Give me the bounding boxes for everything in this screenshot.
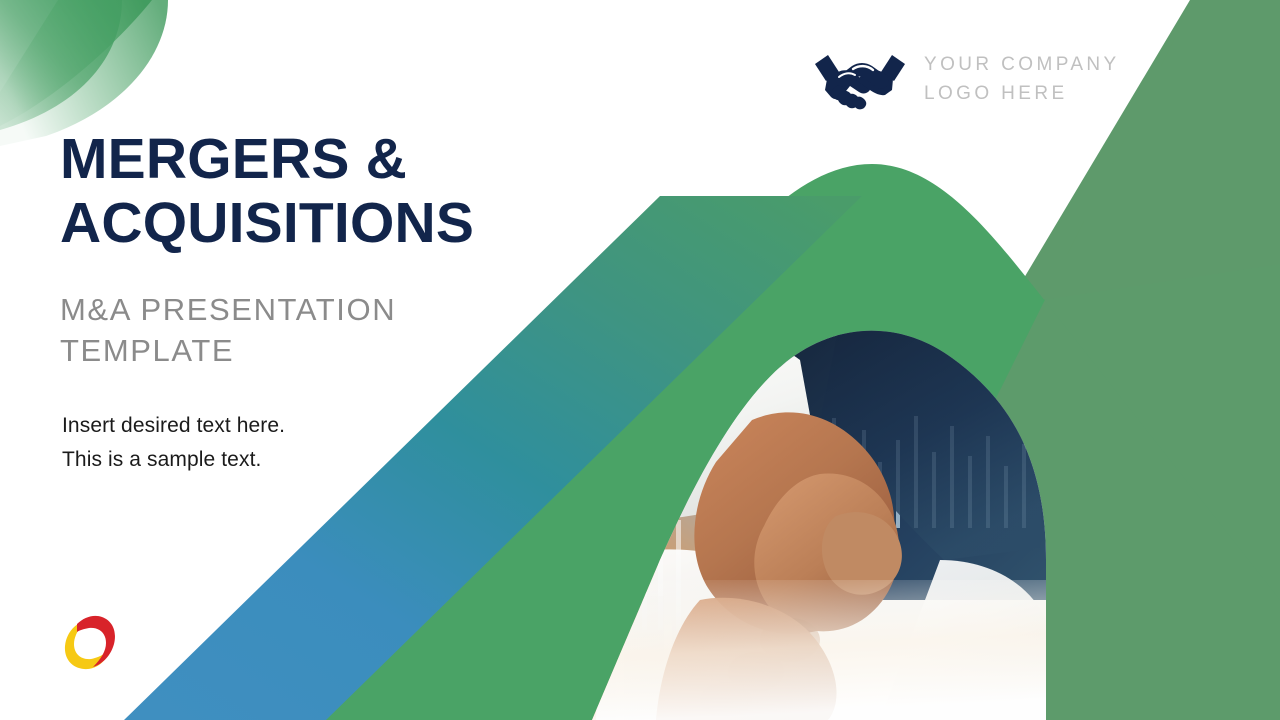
company-logo-text: YOUR COMPANY LOGO HERE bbox=[924, 50, 1120, 109]
company-logo[interactable]: YOUR COMPANY LOGO HERE bbox=[812, 48, 1120, 110]
swirl-ring-logo[interactable] bbox=[57, 608, 123, 678]
top-left-corner-shapes bbox=[0, 0, 168, 146]
slide-subtitle: M&A PRESENTATION TEMPLATE bbox=[60, 290, 580, 372]
title-slide: MERGERS & ACQUISITIONS M&A PRESENTATION … bbox=[0, 0, 1280, 720]
page-title: MERGERS & ACQUISITIONS bbox=[60, 128, 580, 256]
title-text-block: MERGERS & ACQUISITIONS M&A PRESENTATION … bbox=[60, 128, 580, 478]
handshake-icon bbox=[812, 48, 908, 110]
slide-body-text: Insert desired text here. This is a samp… bbox=[62, 409, 580, 477]
